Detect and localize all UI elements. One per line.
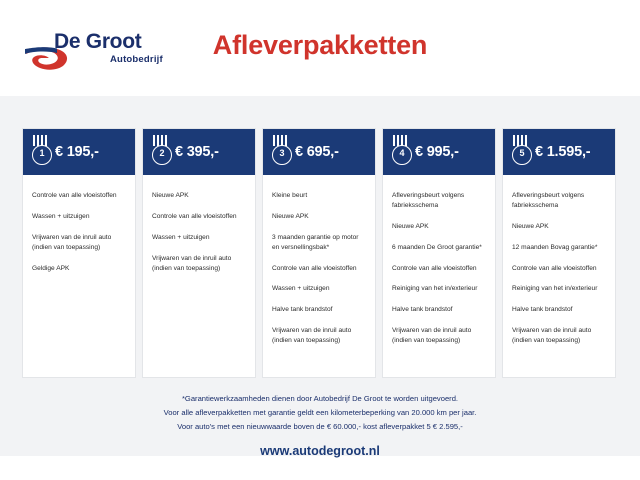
feature-item: Nieuwe APK (512, 222, 606, 232)
medal-icon: 4 (389, 135, 413, 169)
package-features-5: Afleveringsbeurt volgens fabrieksschema … (503, 175, 615, 367)
feature-item: Vrijwaren van de inruil auto (indien van… (152, 254, 246, 274)
package-features-1: Controle van alle vloeistoffen Wassen + … (23, 175, 135, 294)
package-card-5[interactable]: 5 € 1.595,- Afleveringsbeurt volgens fab… (502, 128, 616, 378)
feature-item: Controle van alle vloeistoffen (512, 264, 606, 274)
feature-item: 12 maanden Bovag garantie* (512, 243, 606, 253)
package-number-4: 4 (392, 145, 412, 165)
package-card-2[interactable]: 2 € 395,- Nieuwe APK Controle van alle v… (142, 128, 256, 378)
feature-item: Vrijwaren van de inruil auto (indien van… (392, 326, 486, 346)
medal-icon: 2 (149, 135, 173, 169)
footer-background (0, 456, 640, 480)
package-price-4: € 995,- (415, 144, 459, 160)
package-cards: 1 € 195,- Controle van alle vloeistoffen… (22, 128, 618, 378)
page-title: Afleverpakketten (0, 30, 640, 61)
footnotes: *Garantiewerkzaamheden dienen door Autob… (0, 392, 640, 434)
feature-item: Kleine beurt (272, 191, 366, 201)
feature-item: Nieuwe APK (392, 222, 486, 232)
package-price-5: € 1.595,- (535, 144, 590, 160)
medal-icon: 5 (509, 135, 533, 169)
website-link[interactable]: www.autodegroot.nl (0, 444, 640, 458)
feature-item: Vrijwaren van de inruil auto (indien van… (32, 233, 126, 253)
poster-page: De Groot Autobedrijf Afleverpakketten 1 … (0, 0, 640, 480)
package-price-3: € 695,- (295, 144, 339, 160)
header-band: De Groot Autobedrijf Afleverpakketten (0, 0, 640, 96)
feature-item: Wassen + uitzuigen (32, 212, 126, 222)
footnote-line: *Garantiewerkzaamheden dienen door Autob… (0, 392, 640, 406)
package-card-4[interactable]: 4 € 995,- Afleveringsbeurt volgens fabri… (382, 128, 496, 378)
package-header-3: 3 € 695,- (263, 129, 375, 175)
footnote-line: Voor auto's met een nieuwwaarde boven de… (0, 420, 640, 434)
medal-icon: 1 (29, 135, 53, 169)
package-card-3[interactable]: 3 € 695,- Kleine beurt Nieuwe APK 3 maan… (262, 128, 376, 378)
feature-item: Controle van alle vloeistoffen (392, 264, 486, 274)
package-features-3: Kleine beurt Nieuwe APK 3 maanden garant… (263, 175, 375, 367)
package-number-1: 1 (32, 145, 52, 165)
package-header-1: 1 € 195,- (23, 129, 135, 175)
package-header-5: 5 € 1.595,- (503, 129, 615, 175)
package-header-2: 2 € 395,- (143, 129, 255, 175)
package-features-4: Afleveringsbeurt volgens fabrieksschema … (383, 175, 495, 367)
feature-item: Nieuwe APK (152, 191, 246, 201)
footnote-line: Voor alle afleverpakketten met garantie … (0, 406, 640, 420)
package-number-3: 3 (272, 145, 292, 165)
package-features-2: Nieuwe APK Controle van alle vloeistoffe… (143, 175, 255, 294)
package-header-4: 4 € 995,- (383, 129, 495, 175)
feature-item: Wassen + uitzuigen (152, 233, 246, 243)
package-price-2: € 395,- (175, 144, 219, 160)
package-number-2: 2 (152, 145, 172, 165)
feature-item: Halve tank brandstof (392, 305, 486, 315)
feature-item: Reiniging van het in/exterieur (512, 284, 606, 294)
package-number-5: 5 (512, 145, 532, 165)
feature-item: Vrijwaren van de inruil auto (indien van… (512, 326, 606, 346)
feature-item: Geldige APK (32, 264, 126, 274)
feature-item: Controle van alle vloeistoffen (32, 191, 126, 201)
feature-item: 6 maanden De Groot garantie* (392, 243, 486, 253)
feature-item: Controle van alle vloeistoffen (272, 264, 366, 274)
feature-item: Reiniging van het in/exterieur (392, 284, 486, 294)
feature-item: Controle van alle vloeistoffen (152, 212, 246, 222)
feature-item: Wassen + uitzuigen (272, 284, 366, 294)
feature-item: Afleveringsbeurt volgens fabrieksschema (512, 191, 606, 211)
package-price-1: € 195,- (55, 144, 99, 160)
package-card-1[interactable]: 1 € 195,- Controle van alle vloeistoffen… (22, 128, 136, 378)
feature-item: Halve tank brandstof (272, 305, 366, 315)
feature-item: Nieuwe APK (272, 212, 366, 222)
feature-item: Vrijwaren van de inruil auto (indien van… (272, 326, 366, 346)
medal-icon: 3 (269, 135, 293, 169)
feature-item: Afleveringsbeurt volgens fabrieksschema (392, 191, 486, 211)
feature-item: 3 maanden garantie op motor en versnelli… (272, 233, 366, 253)
feature-item: Halve tank brandstof (512, 305, 606, 315)
